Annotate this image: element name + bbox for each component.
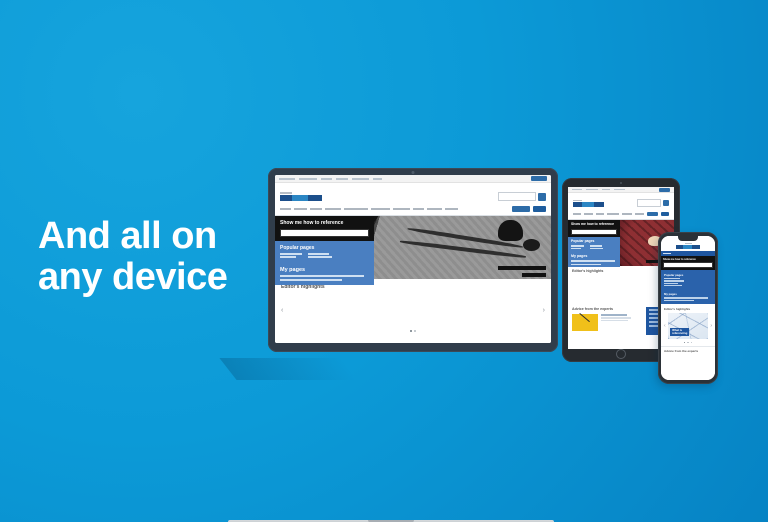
utility-link[interactable]	[602, 189, 610, 191]
advice-item-desc	[601, 320, 628, 322]
carousel-prev-icon[interactable]: ‹	[281, 307, 283, 314]
hero-image	[374, 216, 551, 279]
list-item[interactable]	[280, 253, 302, 255]
hamburger-icon[interactable]	[663, 253, 671, 255]
popular-list-right	[590, 245, 603, 250]
list-item[interactable]	[664, 280, 684, 281]
editors-highlights: Editor's highlights ‹ What is referencin…	[661, 304, 715, 347]
laptop-shadow	[219, 358, 356, 380]
popular-list-right	[308, 253, 332, 259]
carousel-dot[interactable]	[687, 342, 689, 344]
utility-link[interactable]	[321, 178, 332, 180]
login-button[interactable]	[659, 188, 670, 192]
logo-right	[594, 202, 604, 207]
list-item[interactable]	[280, 256, 296, 258]
carousel-dot[interactable]	[691, 342, 693, 344]
my-pages-desc	[664, 297, 708, 298]
list-item[interactable]	[590, 245, 602, 247]
list-item[interactable]	[308, 253, 329, 255]
highlights-title: Editor's highlights	[572, 269, 670, 273]
nav-login-button[interactable]	[661, 212, 669, 216]
utility-link[interactable]	[279, 178, 295, 180]
search-icon[interactable]	[663, 200, 669, 206]
image-credit	[522, 273, 546, 277]
site-logo[interactable]	[676, 245, 700, 249]
advice-main: Advice from the experts	[572, 307, 643, 335]
signup-button[interactable]	[512, 206, 530, 212]
carousel-dot[interactable]	[414, 330, 416, 332]
reference-search-input[interactable]	[571, 229, 617, 235]
utility-link[interactable]	[572, 189, 582, 191]
list-item[interactable]	[664, 278, 680, 279]
nav-item-digital[interactable]	[344, 208, 368, 210]
site-logo[interactable]	[280, 192, 322, 201]
utility-link[interactable]	[614, 189, 625, 191]
popular-pages-title: Popular pages	[280, 245, 369, 251]
hero-panel: Show me how to reference Popular pages	[275, 216, 374, 279]
editors-highlights: Editor's highlights ‹ What is referencin…	[275, 279, 551, 336]
advice-title: Advice from the experts	[664, 349, 712, 353]
tablet-home-button[interactable]	[616, 349, 626, 359]
my-pages-block: My pages	[568, 252, 620, 267]
highlights-carousel: What is referencing Setting out citation…	[572, 277, 670, 301]
reference-finder: Show me how to reference	[661, 256, 715, 270]
header-row	[275, 183, 551, 203]
highlight-card[interactable]: What is referencing	[668, 313, 709, 339]
my-pages-title: My pages	[571, 254, 617, 258]
nav-login-button[interactable]	[533, 206, 546, 212]
popular-pages-block: Popular pages	[661, 270, 715, 289]
logo-them	[683, 245, 692, 249]
list-item[interactable]	[571, 245, 584, 247]
image-caption	[498, 266, 546, 270]
popular-pages-block: Popular pages	[568, 237, 620, 252]
list-item[interactable]	[664, 283, 678, 284]
popular-list-left	[280, 253, 302, 259]
carousel-next-icon[interactable]: ›	[710, 323, 712, 329]
carousel-dot[interactable]	[684, 342, 686, 344]
logo-superscript	[280, 192, 292, 194]
reference-search-input[interactable]	[280, 229, 369, 237]
device-laptop: Show me how to reference Popular pages	[268, 168, 558, 352]
popular-pages-block: Popular pages	[275, 241, 374, 263]
laptop-lid: Show me how to reference Popular pages	[268, 168, 558, 352]
nav-item-research[interactable]	[393, 208, 410, 210]
utility-bar	[275, 175, 551, 183]
my-pages-title: My pages	[280, 267, 369, 273]
logo-them	[582, 202, 594, 207]
carousel-prev-icon[interactable]: ‹	[664, 323, 666, 329]
nav-item-search[interactable]	[294, 208, 307, 210]
my-pages-desc	[571, 264, 601, 266]
utility-link[interactable]	[299, 178, 317, 180]
device-phone: Show me how to reference Popular pages M…	[658, 232, 718, 384]
phone-notch	[678, 236, 698, 241]
main-nav	[275, 203, 551, 216]
reference-finder-title: Show me how to reference	[280, 220, 369, 226]
nav-item-books[interactable]	[310, 208, 322, 210]
list-item[interactable]	[664, 285, 682, 286]
logo-right	[308, 195, 322, 201]
reference-finder-title: Show me how to reference	[663, 258, 713, 261]
popular-pages-title: Popular pages	[664, 273, 712, 277]
nav-item-reference[interactable]	[427, 208, 442, 210]
logo-cite	[280, 195, 292, 201]
reference-search-input[interactable]	[663, 262, 713, 268]
my-pages-block: My pages	[275, 263, 374, 285]
nav-item-journals[interactable]	[325, 208, 341, 210]
reference-finder-title: Show me how to reference	[571, 222, 617, 226]
search-icon[interactable]	[538, 193, 546, 201]
logo-superscript	[573, 200, 582, 202]
nav-item[interactable]	[607, 213, 619, 215]
utility-link[interactable]	[586, 189, 598, 191]
popular-list-left	[571, 245, 584, 250]
list-item[interactable]	[590, 248, 603, 250]
promo-banner: And all on any device	[0, 0, 768, 522]
hero-panel: Show me how to reference Popular pages	[568, 220, 620, 266]
logo-wordmark	[280, 195, 322, 201]
utility-link[interactable]	[336, 178, 348, 180]
list-item[interactable]	[571, 248, 581, 250]
advice-item[interactable]	[572, 311, 643, 331]
laptop-screen: Show me how to reference Popular pages	[275, 175, 551, 343]
nav-item-media[interactable]	[371, 208, 390, 210]
carousel-next-icon[interactable]: ›	[543, 307, 545, 314]
popular-pages-lists	[571, 245, 617, 250]
card-label: What is referencing	[670, 328, 689, 336]
my-pages-desc	[280, 275, 364, 277]
logo-cite	[676, 245, 683, 249]
my-pages-desc	[571, 260, 615, 262]
carousel-dots	[664, 342, 712, 344]
nav-item[interactable]	[622, 213, 632, 215]
search-area	[498, 192, 546, 201]
search-input[interactable]	[637, 199, 661, 207]
nav-item-home[interactable]	[280, 208, 291, 210]
advice-item-desc	[601, 317, 631, 319]
highlights-carousel: ‹ What is referencing ›	[664, 313, 712, 339]
logo-them	[292, 195, 308, 201]
utility-link[interactable]	[373, 178, 382, 180]
my-pages-desc	[280, 279, 342, 281]
my-pages-title: My pages	[664, 292, 712, 296]
reference-finder: Show me how to reference	[568, 220, 620, 237]
popular-pages-lists	[280, 253, 369, 259]
logo-cite	[573, 202, 582, 207]
hero-section: Show me how to reference Popular pages	[275, 216, 551, 279]
nav-item-tutorial[interactable]	[445, 208, 458, 210]
nav-item[interactable]	[584, 213, 593, 215]
search-input[interactable]	[498, 192, 536, 201]
advice-thumbnail	[572, 314, 598, 331]
figure-silhouette-2	[523, 239, 541, 252]
login-button[interactable]	[531, 176, 547, 181]
my-pages-desc	[664, 300, 694, 301]
carousel-dots	[281, 330, 545, 332]
figure-silhouette	[498, 220, 523, 241]
highlights-carousel: ‹ What is referencing Setting out	[281, 294, 545, 327]
list-item[interactable]	[308, 256, 332, 258]
nav-item[interactable]	[596, 213, 604, 215]
highlights-title: Editor's highlights	[664, 307, 712, 311]
nav-item[interactable]	[635, 213, 644, 215]
search-area	[637, 199, 669, 207]
signup-button[interactable]	[647, 212, 658, 216]
site-logo[interactable]	[573, 200, 604, 208]
nav-item-legal[interactable]	[413, 208, 424, 210]
nav-item[interactable]	[573, 213, 581, 215]
header-row	[568, 193, 674, 209]
popular-pages-title: Popular pages	[571, 239, 617, 243]
phone-screen: Show me how to reference Popular pages M…	[661, 236, 715, 380]
utility-link[interactable]	[352, 178, 369, 180]
logo-right	[692, 245, 700, 249]
advice-text	[601, 314, 643, 321]
my-pages-block: My pages	[661, 289, 715, 304]
carousel-dot[interactable]	[410, 330, 412, 332]
reference-finder: Show me how to reference	[275, 216, 374, 241]
logo-superscript	[685, 243, 692, 244]
advice-section: Advice from the experts	[661, 346, 715, 355]
main-nav	[568, 209, 674, 220]
advice-item-title	[601, 314, 627, 316]
